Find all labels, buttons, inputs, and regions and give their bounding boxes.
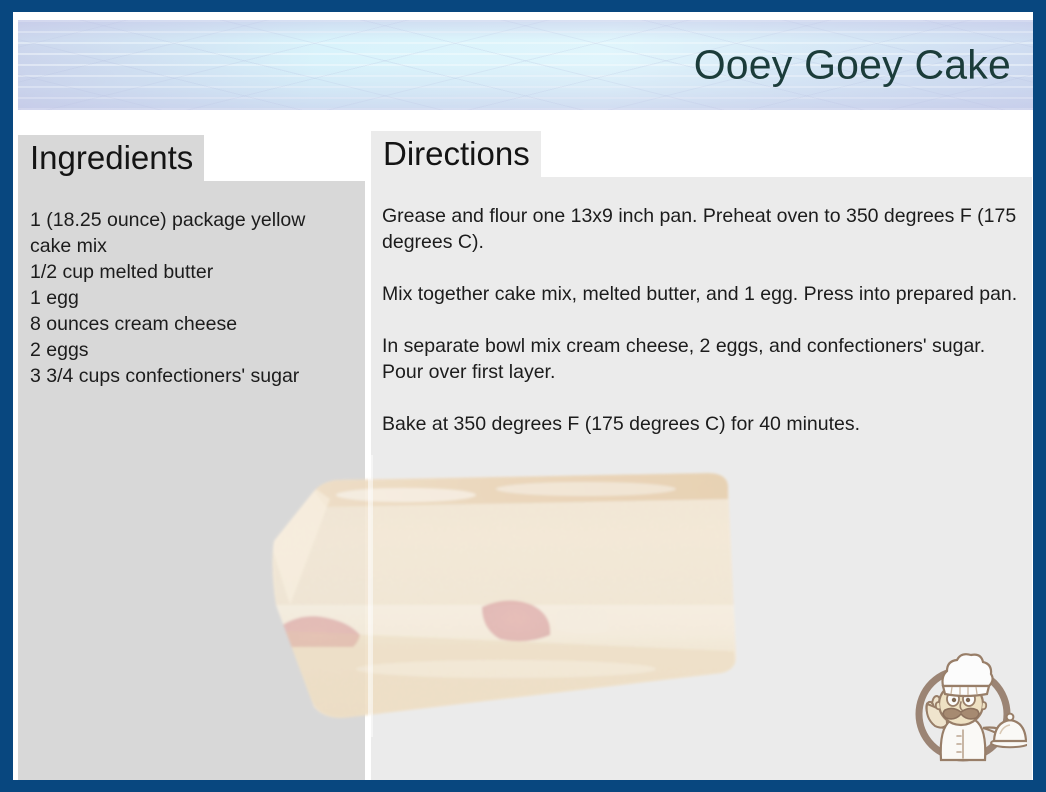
ingredients-heading: Ingredients — [18, 135, 204, 181]
directions-heading: Directions — [371, 131, 541, 177]
list-item: 3 3/4 cups confectioners' sugar — [30, 363, 349, 389]
list-item: 8 ounces cream cheese — [30, 311, 349, 337]
list-item: 1 egg — [30, 285, 349, 311]
ingredients-list: 1 (18.25 ounce) package yellow cake mix … — [30, 207, 349, 389]
recipe-card: Ooey Goey Cake Ingredients 1 (18.25 ounc… — [0, 0, 1046, 792]
list-item: 2 eggs — [30, 337, 349, 363]
card-inner: Ooey Goey Cake Ingredients 1 (18.25 ounc… — [13, 12, 1033, 780]
chef-logo — [899, 644, 1027, 772]
direction-step: In separate bowl mix cream cheese, 2 egg… — [382, 333, 1018, 385]
direction-step: Grease and flour one 13x9 inch pan. Preh… — [382, 203, 1018, 255]
title-banner: Ooey Goey Cake — [18, 20, 1033, 110]
list-item: 1/2 cup melted butter — [30, 259, 349, 285]
direction-step: Bake at 350 degrees F (175 degrees C) fo… — [382, 411, 1018, 437]
list-item: 1 (18.25 ounce) package yellow cake mix — [30, 207, 349, 259]
page-title: Ooey Goey Cake — [694, 45, 1011, 86]
ingredients-panel: 1 (18.25 ounce) package yellow cake mix … — [18, 181, 365, 780]
direction-step: Mix together cake mix, melted butter, an… — [382, 281, 1018, 307]
